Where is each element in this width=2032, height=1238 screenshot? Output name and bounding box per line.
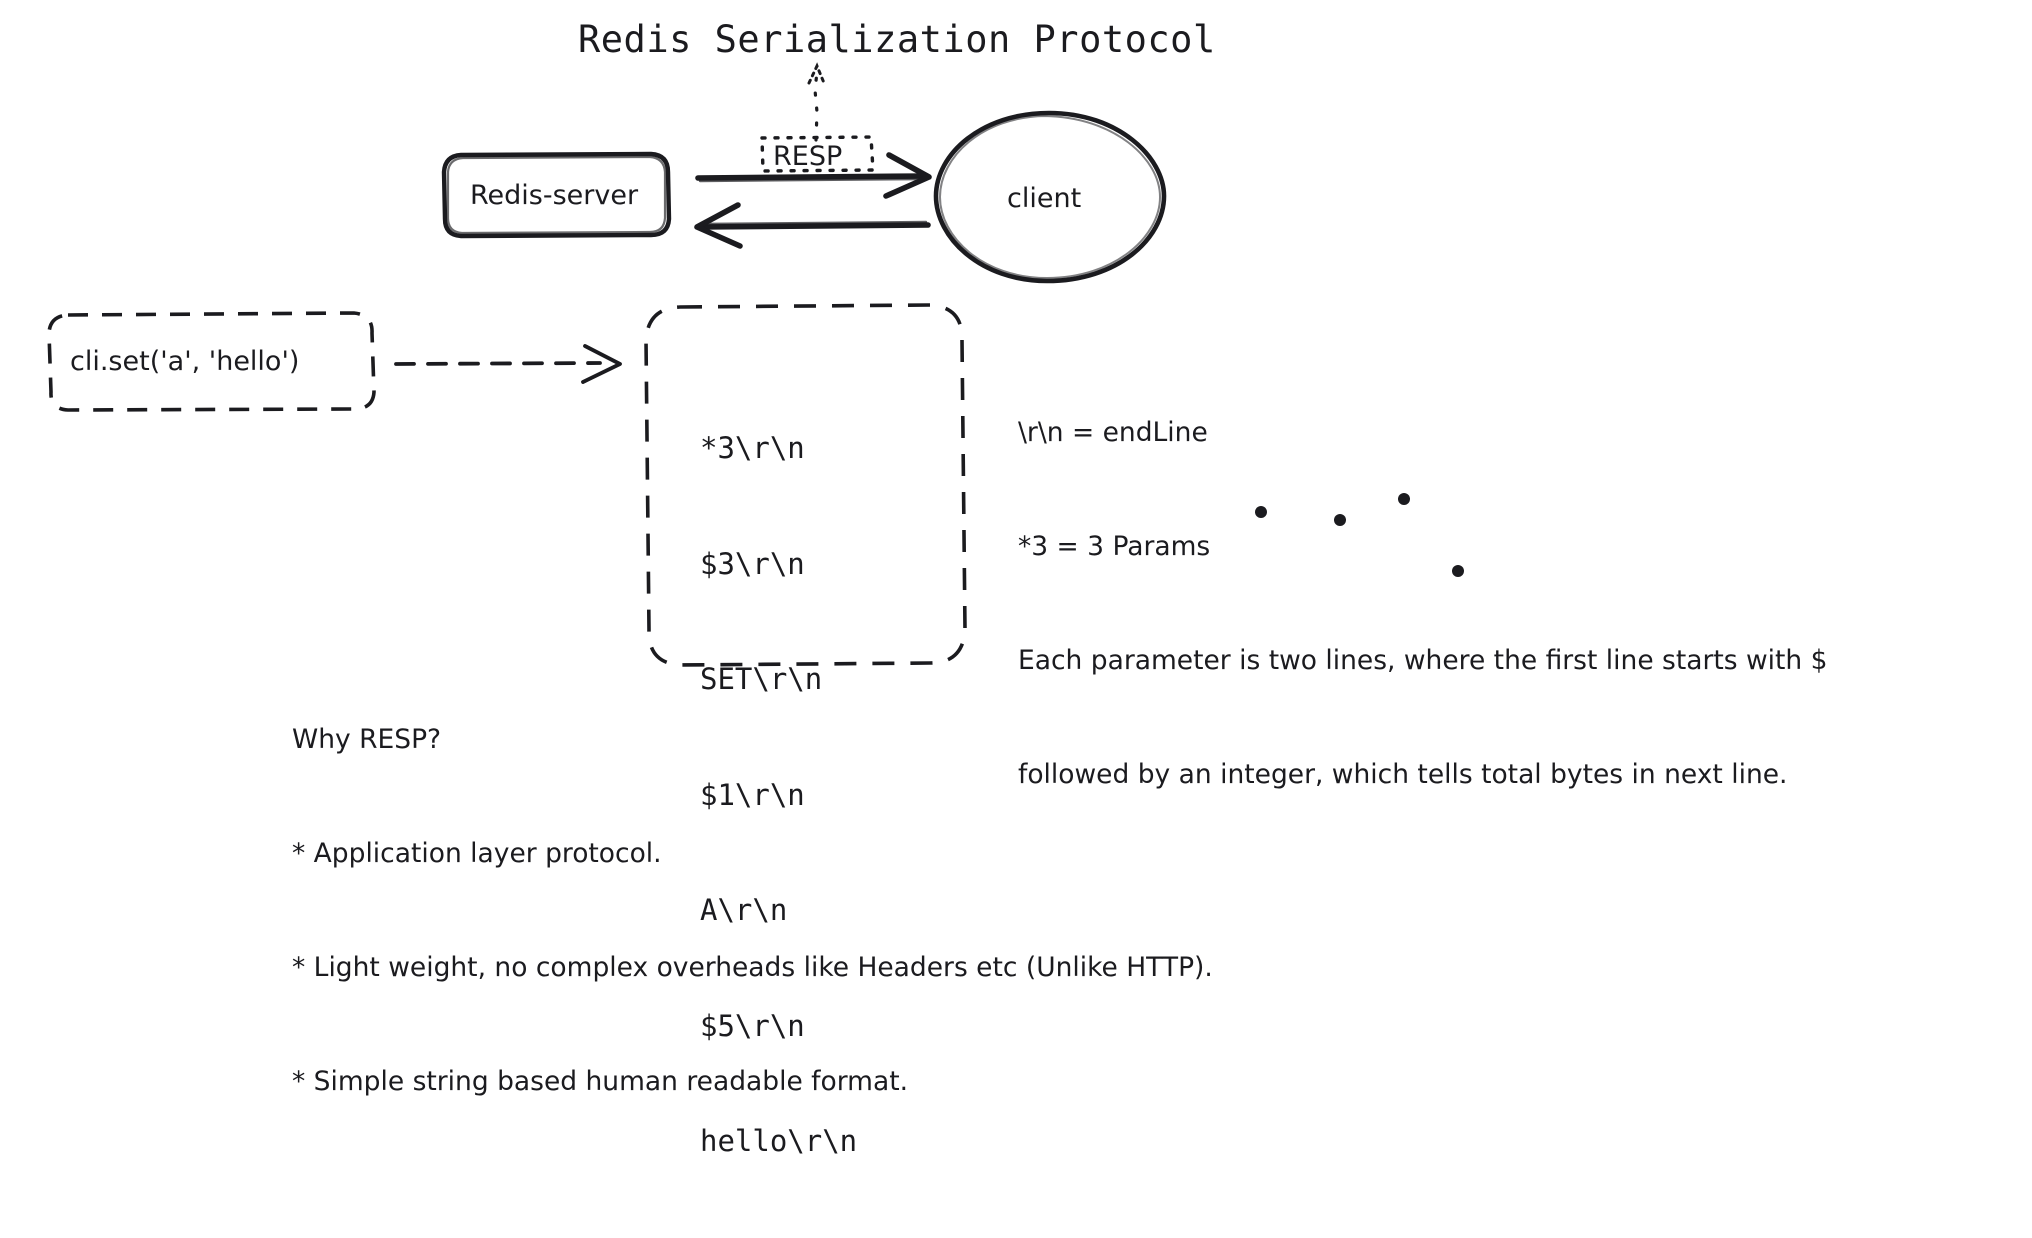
why-resp-heading: Why RESP? (292, 721, 1213, 759)
client-node-label: client (1007, 183, 1081, 214)
why-resp-item: * Light weight, no complex overheads lik… (292, 949, 1213, 987)
page-title: Redis Serialization Protocol (578, 18, 1216, 61)
arrow-client-to-server (697, 205, 928, 246)
why-resp-item: * Application layer protocol. (292, 835, 1213, 873)
resp-payload-line: $3\r\n (700, 545, 857, 584)
command-box-label: cli.set('a', 'hello') (70, 346, 299, 377)
why-resp-block: Why RESP? * Application layer protocol. … (292, 645, 1213, 1177)
resp-to-title-connector (809, 66, 824, 140)
legend-line: *3 = 3 Params (1018, 528, 1828, 566)
redis-server-node-label: Redis-server (470, 180, 638, 211)
legend-line: \r\n = endLine (1018, 414, 1828, 452)
arrow-command-to-payload (396, 346, 620, 382)
resp-badge-label: RESP (773, 141, 842, 172)
resp-payload-line: *3\r\n (700, 429, 857, 468)
why-resp-item: * Simple string based human readable for… (292, 1063, 1213, 1101)
diagram-canvas: Redis Serialization Protocol RESP Redis-… (0, 0, 2032, 832)
